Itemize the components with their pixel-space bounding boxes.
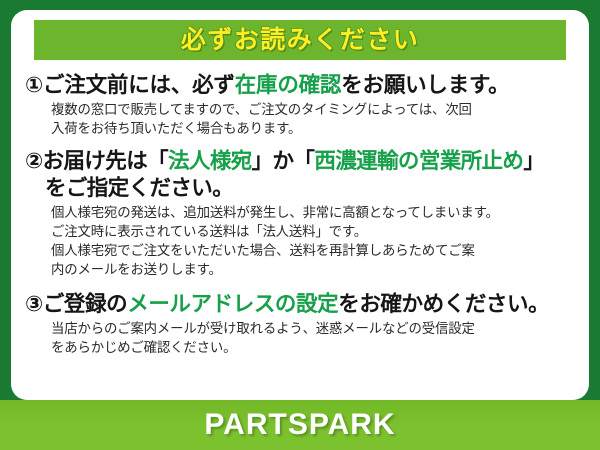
- notice-item-3-detail: 当店からのご案内メールが受け取れるよう、迷惑メールなどの受信設定 をあらかじめご…: [51, 319, 573, 357]
- partspark-logo: PARTSPARK: [204, 408, 395, 442]
- notice-item-2-number: ②: [25, 149, 43, 173]
- notice-item-1-text-before: ご注文前には、必ず: [43, 73, 235, 97]
- notice-item-2-text-before: お届け先は「: [43, 149, 168, 173]
- notice-item-1-highlight: 在庫の確認: [235, 73, 342, 97]
- notice-item-3: ③ご登録のメールアドレスの設定をお確かめください。 当店からのご案内メールが受け…: [25, 291, 573, 357]
- notice-body: ①ご注文前には、必ず在庫の確認をお願いします。 複数の窓口で販売してますので、ご…: [11, 60, 589, 357]
- notice-footer: PARTSPARK: [0, 400, 600, 450]
- notice-item-3-highlight: メールアドレスの設定: [127, 292, 338, 316]
- notice-item-2-heading-line-2: をご指定ください。: [45, 175, 573, 201]
- notice-item-2-heading-line-1: ②お届け先は「法人様宛」か「西濃運輸の営業所止め」: [25, 148, 573, 174]
- notice-item-2: ②お届け先は「法人様宛」か「西濃運輸の営業所止め」 をご指定ください。 個人様宅…: [25, 148, 573, 279]
- notice-banner: 必ずお読みください ①ご注文前には、必ず在庫の確認をお願いします。 複数の窓口で…: [0, 0, 600, 450]
- notice-header-bar: 必ずお読みください: [34, 20, 566, 60]
- notice-item-1-number: ①: [25, 73, 43, 97]
- notice-item-2-detail-line-4: 内のメールをお送りします。: [51, 260, 573, 279]
- notice-item-3-number: ③: [25, 292, 43, 316]
- notice-item-2-highlight-corporate: 法人様宛: [168, 149, 252, 173]
- notice-item-1-heading: ①ご注文前には、必ず在庫の確認をお願いします。: [25, 72, 573, 98]
- notice-item-1-text-after: をお願いします。: [341, 73, 509, 97]
- notice-item-3-detail-line-2: をあらかじめご確認ください。: [51, 338, 573, 357]
- notice-item-3-text-before: ご登録の: [43, 292, 127, 316]
- notice-item-1: ①ご注文前には、必ず在庫の確認をお願いします。 複数の窓口で販売してますので、ご…: [25, 72, 573, 138]
- notice-item-2-detail: 個人様宅宛の発送は、追加送料が発生し、非常に高額となってしまいます。 ご注文時に…: [51, 203, 573, 279]
- notice-header-title: 必ずお読みください: [181, 28, 420, 53]
- notice-item-2-detail-line-1: 個人様宅宛の発送は、追加送料が発生し、非常に高額となってしまいます。: [51, 203, 573, 222]
- notice-item-1-detail: 複数の窓口で販売してますので、ご注文のタイミングによっては、次回 入荷をお待ち頂…: [51, 100, 573, 138]
- notice-item-2-detail-line-2: ご注文時に表示されている送料は「法人送料」です。: [51, 222, 573, 241]
- notice-item-3-heading: ③ご登録のメールアドレスの設定をお確かめください。: [25, 291, 573, 317]
- notice-item-3-detail-line-1: 当店からのご案内メールが受け取れるよう、迷惑メールなどの受信設定: [51, 319, 573, 338]
- notice-panel: 必ずお読みください ①ご注文前には、必ず在庫の確認をお願いします。 複数の窓口で…: [11, 10, 589, 400]
- notice-item-1-detail-line-1: 複数の窓口で販売してますので、ご注文のタイミングによっては、次回: [51, 100, 573, 119]
- notice-item-1-detail-line-2: 入荷をお待ち頂いただく場合もあります。: [51, 119, 573, 138]
- notice-item-3-text-after: をお確かめください。: [338, 292, 549, 316]
- notice-item-2-highlight-seino: 西濃運輸の営業所止め: [314, 149, 523, 173]
- notice-item-2-detail-line-3: 個人様宅宛でご注文をいただいた場合、送料を再計算しあらためてご案: [51, 241, 573, 260]
- notice-item-2-text-after: 」: [523, 149, 544, 173]
- notice-item-2-text-middle: 」か「: [252, 149, 315, 173]
